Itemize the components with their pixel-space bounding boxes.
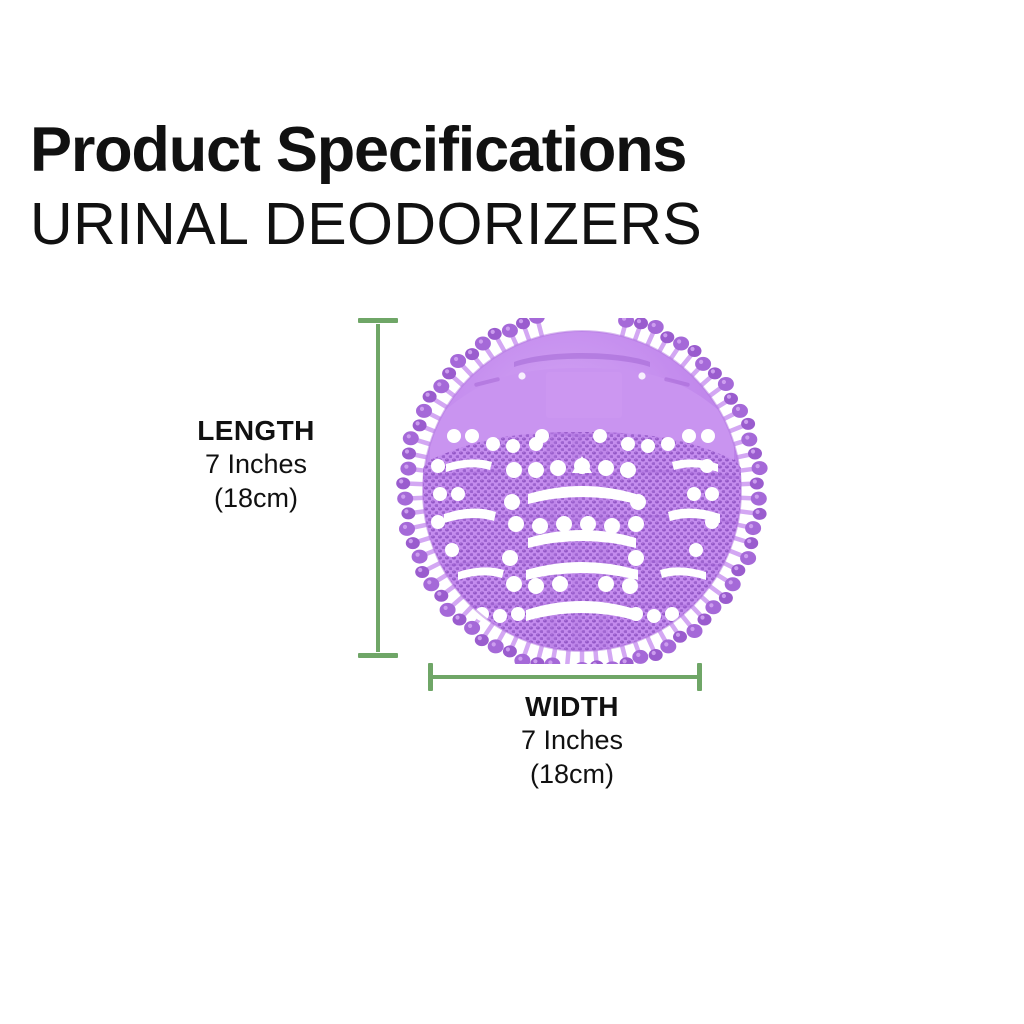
perimeter-nub-highlight xyxy=(747,539,751,543)
perimeter-nub-head xyxy=(745,521,761,535)
perimeter-nub-head xyxy=(590,660,604,664)
perimeter-nub-highlight xyxy=(437,592,441,596)
perimeter-nub-head xyxy=(502,324,518,338)
perimeter-nub-head xyxy=(604,661,620,664)
perimeter-nub-highlight xyxy=(518,657,522,661)
perimeter-nub-highlight xyxy=(722,594,726,598)
perimeter-nub-highlight xyxy=(751,449,755,453)
perimeter-nub-highlight xyxy=(454,357,458,361)
perimeter-nub-head xyxy=(673,631,687,643)
perimeter-nub-highlight xyxy=(403,525,407,529)
perimeter-nub-head xyxy=(741,418,755,430)
perimeter-nub-highlight xyxy=(405,449,409,453)
width-label-title: WIDTH xyxy=(447,690,697,723)
perimeter-nub-highlight xyxy=(727,395,731,399)
perimeter-nub-highlight xyxy=(401,495,405,499)
perimeter-nub-highlight xyxy=(663,333,667,337)
perimeter-nub-highlight xyxy=(426,393,430,397)
perimeter-nub-head xyxy=(415,566,429,578)
perimeter-nub-highlight xyxy=(729,580,733,584)
width-value-imperial: 7 Inches xyxy=(447,723,697,757)
perimeter-nub-head xyxy=(660,331,674,343)
perimeter-nub-head xyxy=(423,577,439,591)
length-rule-cap-top xyxy=(358,318,398,323)
perimeter-nub-head xyxy=(423,391,437,403)
perimeter-nub-head xyxy=(649,649,663,661)
perimeter-nub-highlight xyxy=(444,606,448,610)
width-rule-stem xyxy=(433,675,697,679)
perimeter-nub-highlight xyxy=(468,624,472,628)
perimeter-nub-head xyxy=(401,507,415,519)
perimeter-nub-highlight xyxy=(409,539,413,543)
perimeter-nub-head xyxy=(753,508,767,520)
perimeter-nub-head xyxy=(695,357,711,371)
perimeter-nub-head xyxy=(718,377,734,391)
perimeter-nub-highlight xyxy=(709,603,713,607)
perimeter-nub-highlight xyxy=(699,360,703,364)
perimeter-nub-head xyxy=(732,404,748,418)
perimeter-nub-head xyxy=(465,348,479,360)
perimeter-nub-highlight xyxy=(652,323,656,327)
perimeter-nub-highlight xyxy=(677,339,681,343)
perimeter-nub-highlight xyxy=(755,495,759,499)
perimeter-nub-head xyxy=(475,337,491,351)
length-label-title: LENGTH xyxy=(131,414,381,447)
perimeter-nub-highlight xyxy=(736,407,740,411)
perimeter-nub-head xyxy=(574,662,590,664)
perimeter-nub-highlight xyxy=(506,647,510,651)
perimeter-nub-highlight xyxy=(637,319,641,323)
perimeter-nub-head xyxy=(750,478,764,490)
perimeter-nub-highlight xyxy=(407,434,411,438)
product-image: {} xyxy=(396,318,768,664)
perimeter-nub-highlight xyxy=(700,615,704,619)
perimeter-nub-highlight xyxy=(711,369,715,373)
perimeter-nub-highlight xyxy=(664,642,668,646)
perimeter-nub-head xyxy=(698,614,712,626)
perimeter-nub-highlight xyxy=(420,407,424,411)
perimeter-nub-highlight xyxy=(690,627,694,631)
perimeter-nub-head xyxy=(744,537,758,549)
perimeter-nub-head xyxy=(687,624,703,638)
perimeter-nub-head xyxy=(752,461,768,475)
perimeter-nub-highlight xyxy=(506,327,510,331)
perimeter-nub-highlight xyxy=(416,553,420,557)
perimeter-nub-head xyxy=(416,404,432,418)
perimeter-nub-highlight xyxy=(744,554,748,558)
width-dimension-line xyxy=(428,663,702,691)
perimeter-nub-head xyxy=(442,367,456,379)
width-value-metric: (18cm) xyxy=(447,757,697,791)
width-rule-cap-right xyxy=(697,663,702,691)
perimeter-nub-highlight xyxy=(416,421,420,425)
perimeter-nub-head xyxy=(464,621,480,635)
mounting-hole-left xyxy=(518,372,525,379)
perimeter-nub-highlight xyxy=(722,380,726,384)
perimeter-nub-highlight xyxy=(445,369,449,373)
perimeter-nub-head xyxy=(725,577,741,591)
perimeter-nub-head xyxy=(406,537,420,549)
perimeter-nub-head xyxy=(397,492,413,506)
perimeter-nub-highlight xyxy=(734,566,738,570)
perimeter-nub-highlight xyxy=(404,509,408,513)
perimeter-nub-head xyxy=(731,564,745,576)
perimeter-nub-highlight xyxy=(636,653,640,657)
perimeter-nub-head xyxy=(433,379,449,393)
perimeter-nub-head xyxy=(724,393,738,405)
perimeter-nub-highlight xyxy=(427,580,431,584)
perimeter-nub-head xyxy=(400,462,416,476)
perimeter-nub-head xyxy=(748,448,762,460)
width-label-block: WIDTH 7 Inches (18cm) xyxy=(447,690,697,791)
perimeter-nub-highlight xyxy=(519,319,523,323)
perimeter-nub-head xyxy=(488,639,504,653)
perimeter-nub-highlight xyxy=(491,330,495,334)
length-value-metric: (18cm) xyxy=(131,481,381,515)
perimeter-nub-head xyxy=(648,320,664,334)
perimeter-nub-highlight xyxy=(676,633,680,637)
perimeter-nub-head xyxy=(529,318,545,324)
perimeter-nub-head xyxy=(488,328,502,340)
perimeter-nub-head xyxy=(705,600,721,614)
perimeter-nub-highlight xyxy=(652,651,656,655)
perimeter-nub-highlight xyxy=(437,382,441,386)
perimeter-nub-highlight xyxy=(533,659,537,663)
perimeter-nub-head xyxy=(620,657,634,664)
perimeter-nub-head xyxy=(688,345,702,357)
perimeter-nub-highlight xyxy=(418,568,422,572)
perimeter-nub-head xyxy=(708,367,722,379)
perimeter-nub-head xyxy=(530,657,544,664)
perimeter-nub-head xyxy=(440,603,456,617)
perimeter-nub-highlight xyxy=(399,479,403,483)
perimeter-nub-head xyxy=(396,477,410,489)
perimeter-nub-highlight xyxy=(756,510,760,514)
perimeter-nub-highlight xyxy=(756,464,760,468)
perimeter-nub-head xyxy=(673,337,689,351)
page-title: Product Specifications xyxy=(30,118,1000,182)
perimeter-nub-head xyxy=(399,522,415,536)
perimeter-nub-highlight xyxy=(492,642,496,646)
perimeter-nub-head xyxy=(475,634,489,646)
perimeter-nub-head xyxy=(740,551,756,565)
product-spec-canvas: Product Specifications URINAL DEODORIZER… xyxy=(0,0,1024,1024)
perimeter-nub-highlight xyxy=(404,465,408,469)
perimeter-nub-highlight xyxy=(753,479,757,483)
perimeter-nub-highlight xyxy=(744,420,748,424)
perimeter-nub-head xyxy=(634,318,648,329)
length-value-imperial: 7 Inches xyxy=(131,447,381,481)
perimeter-nub-head xyxy=(503,645,517,657)
perimeter-nub-highlight xyxy=(478,636,482,640)
perimeter-nub-head xyxy=(516,318,530,329)
perimeter-nub-highlight xyxy=(455,615,459,619)
perimeter-nub-head xyxy=(434,590,448,602)
perimeter-nub-head xyxy=(453,614,467,626)
perimeter-nub-head xyxy=(632,650,648,664)
perimeter-nub-highlight xyxy=(479,339,483,343)
perimeter-nub-head xyxy=(402,448,416,460)
perimeter-nub-head xyxy=(412,550,428,564)
perimeter-nub-head xyxy=(741,433,757,447)
perimeter-nub-highlight xyxy=(745,435,749,439)
perimeter-nub-head xyxy=(413,419,427,431)
perimeter-nub-head xyxy=(450,354,466,368)
heading-block: Product Specifications URINAL DEODORIZER… xyxy=(30,118,1000,260)
mounting-hole-right xyxy=(638,372,645,379)
urinal-deodorizer-screen-graphic: {} xyxy=(396,318,768,664)
length-rule-cap-bottom xyxy=(358,653,398,658)
perimeter-nub-head xyxy=(618,318,634,328)
length-label-block: LENGTH 7 Inches (18cm) xyxy=(131,414,381,515)
perimeter-nub-head xyxy=(403,431,419,445)
page-subtitle: URINAL DEODORIZERS xyxy=(30,190,1000,260)
perimeter-nub-head xyxy=(719,592,733,604)
perimeter-nub-highlight xyxy=(690,347,694,351)
perimeter-nub-head xyxy=(660,639,676,653)
perimeter-nub-head xyxy=(751,492,767,506)
perimeter-nub-highlight xyxy=(468,350,472,354)
perimeter-nub-highlight xyxy=(623,659,627,663)
perimeter-nub-highlight xyxy=(749,524,753,528)
